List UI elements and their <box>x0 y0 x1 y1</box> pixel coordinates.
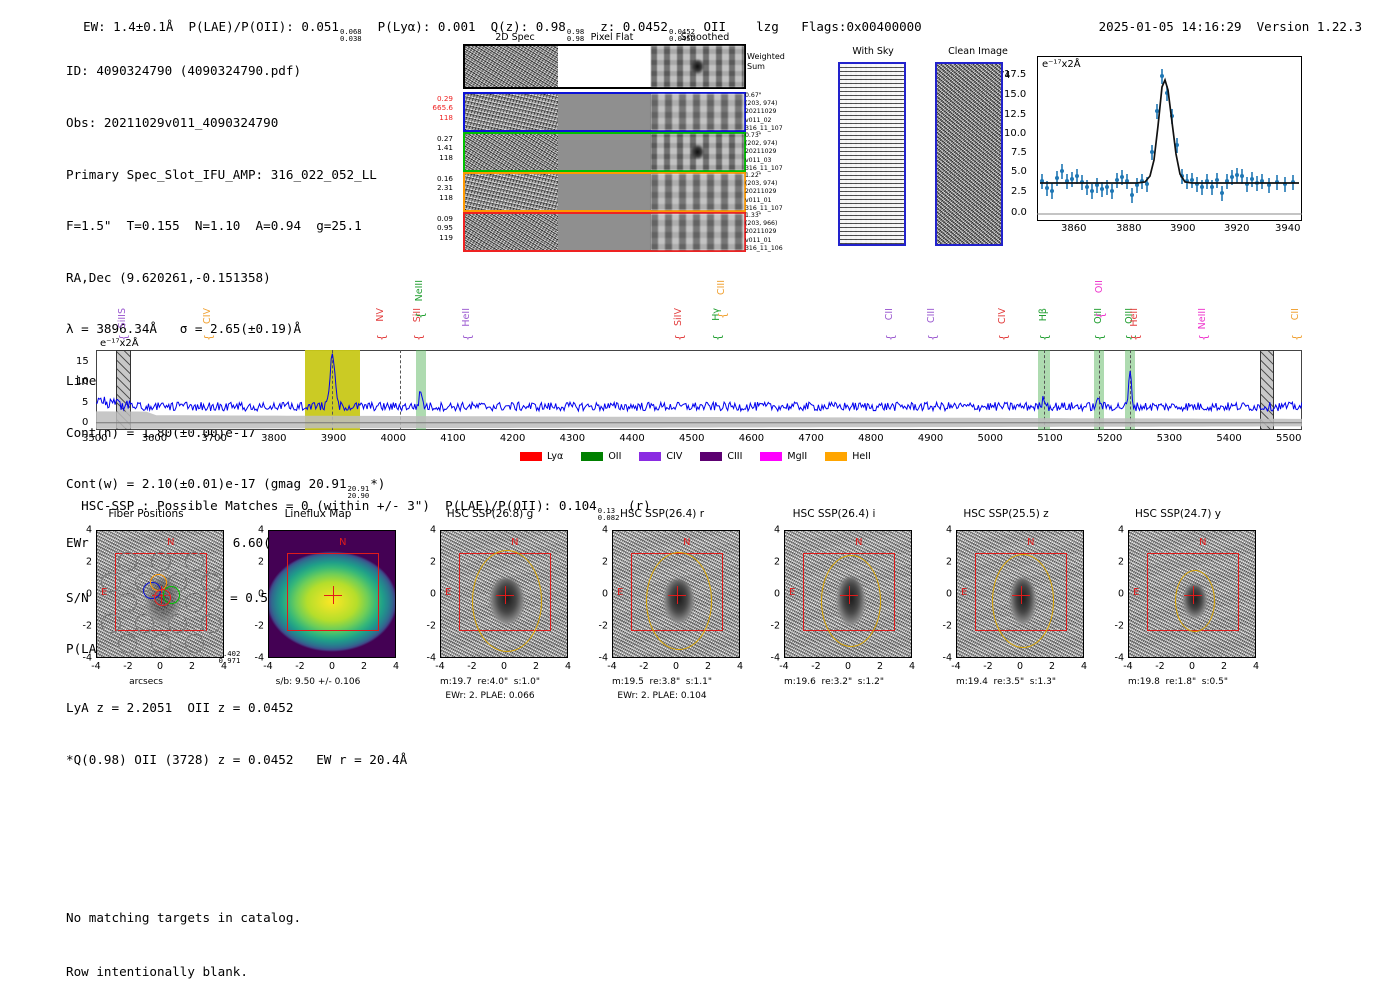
spectrum-xtick-4300: 4300 <box>560 433 585 444</box>
cutout-caption2-3: EWr: 2. PLAE: 0.104 <box>576 691 748 701</box>
spectrum-line-brace-11: { <box>997 334 1010 341</box>
spectrum-line-brace-7: { <box>711 334 724 341</box>
fiber-circle-12 <box>168 614 187 633</box>
info-primary-spec: Primary Spec_Slot_IFU_AMP: 316_022_052_L… <box>66 166 407 183</box>
cutout-1-xtick-4: 4 <box>393 661 399 672</box>
north-label-5: N <box>1027 537 1034 548</box>
east-label-2: E <box>445 587 451 598</box>
info-seeing-params: F=1.5" T=0.155 N=1.10 A=0.94 g=25.1 <box>66 217 407 234</box>
spectrum-line-label-CIV-11: CIV <box>997 308 1008 324</box>
cutout-6-xtick--2: -2 <box>1155 661 1164 672</box>
spectrum-line-label-NV-2: NV <box>375 308 386 322</box>
cutout-4-ytick-0: 0 <box>774 589 780 600</box>
fiber-row-3-left-label: 0.16 2.31 118 <box>395 174 453 202</box>
cutout-0-ytick-4: 4 <box>86 525 92 536</box>
spectrum-line-brace-8: { <box>716 312 729 319</box>
spectrum-xtick-5100: 5100 <box>1037 433 1062 444</box>
cutout-0-ytick-2: 2 <box>86 557 92 568</box>
fiber-row-4-right-label: 1.33" (203, 966) 20211029 v011_01 316_11… <box>745 212 783 253</box>
spectrum-line-brace-3: { <box>412 334 425 341</box>
fiber-row-1-pixelflat <box>558 94 651 130</box>
spectrum-xtick-3700: 3700 <box>201 433 226 444</box>
cutout-5-xtick--2: -2 <box>983 661 992 672</box>
fiber-circle-6 <box>201 573 220 592</box>
east-label-5: E <box>961 587 967 598</box>
spectrum-xtick-4900: 4900 <box>918 433 943 444</box>
spectrum-line-brace-17: { <box>1197 334 1210 341</box>
weighted-sum-label: Weighted Sum <box>747 52 785 72</box>
east-label-4: E <box>789 587 795 598</box>
kron-ellipse-2 <box>472 550 542 652</box>
kron-ellipse-6 <box>1175 570 1215 632</box>
fiber-circle-15 <box>151 634 170 653</box>
cutout-2-xtick-2: 2 <box>533 661 539 672</box>
fiber-row-1-smoothed <box>651 94 744 130</box>
fiber-circle-9 <box>185 593 204 612</box>
cutout-6-xtick-0: 0 <box>1189 661 1195 672</box>
lp-ytick-0.0: 0.0 <box>1011 207 1027 218</box>
spectrum-xtick-3900: 3900 <box>321 433 346 444</box>
cutout-caption1-3: m:19.5 re:3.8" s:1.1" <box>576 677 748 687</box>
with-sky-title-text: With Sky <box>852 46 893 57</box>
cutout-4-xtick-4: 4 <box>909 661 915 672</box>
cutout-6-xtick--4: -4 <box>1123 661 1132 672</box>
weighted-sum-2dspec <box>465 46 558 87</box>
spectrum-line-label-CIII-8: CIII <box>716 280 727 295</box>
cutout-axes-4[interactable]: NE <box>784 530 912 658</box>
spectrum-units: e⁻¹⁷x2Å <box>100 338 139 349</box>
cutout-caption2-2: EWr: 2. PLAE: 0.066 <box>404 691 576 701</box>
cutout-3-xtick-4: 4 <box>737 661 743 672</box>
panel-title-2dspec: 2D Spec <box>485 32 545 43</box>
cutout-axes-1[interactable]: N <box>268 530 396 658</box>
full-spectrum-chart: e⁻¹⁷x2Å <box>96 350 1302 430</box>
spectrum-line-brace-2: { <box>375 334 388 341</box>
east-label-6: E <box>1133 587 1139 598</box>
spectrum-xtick-4400: 4400 <box>619 433 644 444</box>
kron-ellipse-5 <box>992 554 1054 648</box>
fiber-row-1 <box>463 92 746 132</box>
cutout-4-ytick-4: 4 <box>774 525 780 536</box>
cutout-2-xtick-0: 0 <box>501 661 507 672</box>
cutout-5-ytick-4: 4 <box>946 525 952 536</box>
fiber-row-2-left-label: 0.27 1.41 118 <box>395 134 453 162</box>
cutout-0-xtick-2: 2 <box>189 661 195 672</box>
lp-ytick-10.0: 10.0 <box>1004 128 1026 139</box>
cutout-0-xtick-0: 0 <box>157 661 163 672</box>
legend-swatch-CIII <box>700 452 722 461</box>
cutout-5-xtick-2: 2 <box>1049 661 1055 672</box>
spectrum-ytick-15: 15 <box>76 356 89 367</box>
cutout-2-xtick--2: -2 <box>467 661 476 672</box>
spectrum-xtick-4200: 4200 <box>500 433 525 444</box>
kron-ellipse-4 <box>821 555 881 647</box>
cutout-title-1: Lineflux Map <box>232 508 404 520</box>
legend-item-OII: OII <box>581 451 621 462</box>
cutout-2-ytick-4: 4 <box>430 525 436 536</box>
cutout-5-ytick-0: 0 <box>946 589 952 600</box>
spectrum-xtick-4700: 4700 <box>798 433 823 444</box>
cutout-4-xtick--4: -4 <box>779 661 788 672</box>
highlight-fiber-3 <box>154 589 171 606</box>
lp-xtick-3860: 3860 <box>1061 223 1086 234</box>
lp-ytick-15.0: 15.0 <box>1004 89 1026 100</box>
cutout-title-6: HSC SSP(24.7) y <box>1092 508 1264 520</box>
spectrum-line-label-Hβ-12: Hβ <box>1038 308 1049 321</box>
lp-ytick-17.5: 17.5 <box>1004 69 1026 80</box>
fiber-row-4-left-label: 0.09 0.95 119 <box>395 214 453 242</box>
legend-label-MgII: MgII <box>787 451 807 462</box>
weighted-sum-smoothed <box>651 46 744 87</box>
fiber-row-4-smoothed <box>651 214 744 250</box>
cutout-6-ytick-4: 4 <box>1118 525 1124 536</box>
cutout-3-xtick--4: -4 <box>607 661 616 672</box>
spectrum-xtick-3800: 3800 <box>261 433 286 444</box>
cutout-6-xtick-4: 4 <box>1253 661 1259 672</box>
spectrum-xtick-5500: 5500 <box>1276 433 1301 444</box>
footer-line-1: No matching targets in catalog. <box>66 909 301 927</box>
spectrum-line-brace-5: { <box>461 334 474 341</box>
cutout-title-5: HSC SSP(25.5) z <box>920 508 1092 520</box>
legend-label-CIII: CIII <box>727 451 742 462</box>
cutout-0-xtick--2: -2 <box>123 661 132 672</box>
spectrum-xtick-5200: 5200 <box>1097 433 1122 444</box>
cutout-4-xtick-0: 0 <box>845 661 851 672</box>
spectrum-line-label-HeII-16: HeII <box>1129 308 1140 327</box>
legend-label-OII: OII <box>608 451 621 462</box>
cutout-title-4: HSC SSP(26.4) i <box>748 508 920 520</box>
fiber-row-4 <box>463 212 746 252</box>
spectrum-xtick-3500: 3500 <box>82 433 107 444</box>
header-version: Version 1.22.3 <box>1257 19 1362 34</box>
cutout-0-ytick-0: 0 <box>86 589 92 600</box>
spectrum-xtick-4500: 4500 <box>679 433 704 444</box>
east-label-3: E <box>617 587 623 598</box>
fiber-row-1-right-label: 0.67" (203, 974) 20211029 v011_02 316_11… <box>745 92 783 133</box>
spectrum-line-brace-1: { <box>202 334 215 341</box>
fiber-circle-16 <box>185 634 204 653</box>
spectrum-line-brace-13: { <box>1093 334 1106 341</box>
lp-xtick-3900: 3900 <box>1170 223 1195 234</box>
cutout-title-0: Fiber Positions <box>60 508 232 520</box>
info-id: ID: 4090324790 (4090324790.pdf) <box>66 62 407 79</box>
legend-swatch-OII <box>581 452 603 461</box>
cutout-caption1-0: arcsecs <box>60 677 232 687</box>
cutout-5-xtick-4: 4 <box>1081 661 1087 672</box>
lp-ytick-2.5: 2.5 <box>1011 186 1027 197</box>
legend-item-MgII: MgII <box>760 451 807 462</box>
info-obs: Obs: 20211029v011_4090324790 <box>66 114 407 131</box>
north-label-4: N <box>855 537 862 548</box>
cutout-3-xtick-2: 2 <box>705 661 711 672</box>
cutout-6-ytick-0: 0 <box>1118 589 1124 600</box>
spectrum-line-brace-18: { <box>1290 334 1303 341</box>
cutout-axes-5[interactable]: NE <box>956 530 1084 658</box>
cutout-2-ytick--2: -2 <box>427 621 436 632</box>
cutout-axes-6[interactable]: NE <box>1128 530 1256 658</box>
spectrum-line-label-OII-14: OII <box>1094 280 1105 293</box>
header-meta: 2025-01-05 14:16:29 Version 1.22.3 <box>1084 4 1362 34</box>
spectrum-line-label-HeII-5: HeII <box>461 308 472 327</box>
cutout-title-2: HSC SSP(26.8) g <box>404 508 576 520</box>
north-label-0: N <box>167 537 174 548</box>
spectrum-line-brace-9: { <box>884 334 897 341</box>
fiber-row-1-left-label: 0.29 665.6 118 <box>395 94 453 122</box>
legend-label-CIV: CIV <box>666 451 682 462</box>
cutout-1-ytick-4: 4 <box>258 525 264 536</box>
cutout-5-ytick-2: 2 <box>946 557 952 568</box>
cutout-5-xtick-0: 0 <box>1017 661 1023 672</box>
spectrum-line-label-CIV-1: CIV <box>202 308 213 324</box>
clean-image-title-text: Clean Image <box>948 46 1008 57</box>
fiber-circle-11 <box>135 614 154 633</box>
spectrum-ytick-10: 10 <box>76 376 89 387</box>
legend-swatch-CIV <box>639 452 661 461</box>
spectrum-line-label-SiIIS-0: SiIIS <box>117 308 128 328</box>
cutout-axes-0[interactable]: NE <box>96 530 224 658</box>
cutout-4-ytick--2: -2 <box>771 621 780 632</box>
with-sky-pixels <box>840 64 904 244</box>
fiber-row-2-right-label: 0.73" (202, 974) 20211029 v011_03 316_11… <box>745 132 783 173</box>
fiber-row-2 <box>463 132 746 172</box>
legend-item-Lyα: Lyα <box>520 451 563 462</box>
fiber-circle-2 <box>185 552 204 571</box>
header-flags: Flags:0x00400000 <box>801 19 921 34</box>
cutout-caption1-2: m:19.7 re:4.0" s:1.0" <box>404 677 576 687</box>
spectrum-trace <box>96 350 1302 430</box>
spectrum-line-label-CII-9: CII <box>884 308 895 320</box>
highlight-fiber-2 <box>150 574 167 591</box>
east-label-0: E <box>101 587 107 598</box>
panel-title-pixelflat: Pixel Flat <box>577 32 647 43</box>
cutout-0-xtick--4: -4 <box>91 661 100 672</box>
footer-notes: No matching targets in catalog. Row inte… <box>66 873 301 999</box>
spectrum-xtick-5300: 5300 <box>1157 433 1182 444</box>
lp-ytick-12.5: 12.5 <box>1004 109 1026 120</box>
cutout-1-xtick-2: 2 <box>361 661 367 672</box>
cutout-3-ytick--2: -2 <box>599 621 608 632</box>
cutout-caption1-6: m:19.8 re:1.8" s:0.5" <box>1092 677 1264 687</box>
cutout-caption1-4: m:19.6 re:3.2" s:1.2" <box>748 677 920 687</box>
legend-swatch-HeII <box>825 452 847 461</box>
cutout-caption1-1: s/b: 9.50 +/- 0.106 <box>232 677 404 687</box>
cutout-axes-3[interactable]: NE <box>612 530 740 658</box>
spec2d-panel-group: 2D Spec Pixel Flat Smoothed Weighted Sum… <box>425 32 805 257</box>
fiber-row-2-pixelflat <box>558 134 651 170</box>
cutout-2-ytick-0: 0 <box>430 589 436 600</box>
fiber-row-2-2dspec <box>465 134 558 170</box>
cutout-4-ytick-2: 2 <box>774 557 780 568</box>
lp-xtick-3880: 3880 <box>1116 223 1141 234</box>
spectrum-xtick-3600: 3600 <box>142 433 167 444</box>
info-redshifts: LyA z = 2.2051 OII z = 0.0452 <box>66 699 407 716</box>
cutout-1-ytick-0: 0 <box>258 589 264 600</box>
cutout-2-xtick--4: -4 <box>435 661 444 672</box>
cutout-3-ytick-4: 4 <box>602 525 608 536</box>
spectrum-line-brace-4: { <box>414 312 427 319</box>
cutout-3-xtick-0: 0 <box>673 661 679 672</box>
fiber-row-3-smoothed <box>651 174 744 210</box>
spectrum-xtick-4100: 4100 <box>440 433 465 444</box>
weighted-sum-row <box>463 44 746 89</box>
clean-image-pixels <box>937 64 1001 244</box>
cutout-3-ytick-2: 2 <box>602 557 608 568</box>
cutout-5-xtick--4: -4 <box>951 661 960 672</box>
fiber-circle-10 <box>101 614 120 633</box>
spectrum-line-brace-16: { <box>1129 334 1142 341</box>
with-sky-image <box>838 62 906 246</box>
fiber-row-3 <box>463 172 746 212</box>
fiber-circle-1 <box>151 552 170 571</box>
fiber-row-4-2dspec <box>465 214 558 250</box>
north-label-6: N <box>1199 537 1206 548</box>
spectrum-line-label-SiIV-6: SiIV <box>673 308 684 326</box>
cutout-0-ytick--2: -2 <box>83 621 92 632</box>
north-label-3: N <box>683 537 690 548</box>
header-timestamp: 2025-01-05 14:16:29 <box>1099 19 1242 34</box>
cutout-4-xtick--2: -2 <box>811 661 820 672</box>
cutout-5-ytick--2: -2 <box>943 621 952 632</box>
spectrum-line-brace-12: { <box>1038 334 1051 341</box>
legend-item-CIII: CIII <box>700 451 742 462</box>
legend-swatch-MgII <box>760 452 782 461</box>
legend-label-Lyα: Lyα <box>547 451 563 462</box>
legend-item-CIV: CIV <box>639 451 682 462</box>
cutout-2-ytick-2: 2 <box>430 557 436 568</box>
cutout-axes-2[interactable]: NE <box>440 530 568 658</box>
cutout-1-ytick--2: -2 <box>255 621 264 632</box>
spectrum-xtick-5000: 5000 <box>978 433 1003 444</box>
fiber-row-3-2dspec <box>465 174 558 210</box>
fiber-row-3-pixelflat <box>558 174 651 210</box>
line-profile-chart: e⁻¹⁷x2Å <box>1037 56 1302 221</box>
lp-ytick-7.5: 7.5 <box>1011 147 1027 158</box>
spectrum-xtick-5400: 5400 <box>1216 433 1241 444</box>
lp-xtick-3940: 3940 <box>1275 223 1300 234</box>
cutout-1-xtick--4: -4 <box>263 661 272 672</box>
legend-swatch-Lyα <box>520 452 542 461</box>
spectrum-line-label-NeIII-4: NeIII <box>414 280 425 301</box>
center-crosshair-v-1 <box>333 586 334 604</box>
cutout-6-xtick-2: 2 <box>1221 661 1227 672</box>
spectrum-ytick-0: 0 <box>82 417 88 428</box>
spectrum-ytick-5: 5 <box>82 397 88 408</box>
lp-xtick-3920: 3920 <box>1224 223 1249 234</box>
cutout-3-xtick--2: -2 <box>639 661 648 672</box>
weighted-sum-pixelflat <box>558 46 651 87</box>
cutout-title-3: HSC SSP(26.4) r <box>576 508 748 520</box>
cutout-caption1-5: m:19.4 re:3.5" s:1.3" <box>920 677 1092 687</box>
fiber-circle-13 <box>201 614 220 633</box>
cutout-4-xtick-2: 2 <box>877 661 883 672</box>
line-profile-svg <box>1037 56 1302 221</box>
fiber-row-4-pixelflat <box>558 214 651 250</box>
spectrum-line-label-CII-18: CII <box>1290 308 1301 320</box>
spectrum-xtick-4600: 4600 <box>739 433 764 444</box>
cutout-2-xtick-4: 4 <box>565 661 571 672</box>
panel-title-smoothed: Smoothed <box>670 32 740 43</box>
cutout-3-ytick-0: 0 <box>602 589 608 600</box>
legend-label-HeII: HeII <box>852 451 871 462</box>
spectrum-legend: LyαOIICIVCIIIMgIIHeII <box>520 451 871 462</box>
spectrum-xtick-4800: 4800 <box>858 433 883 444</box>
spectrum-line-label-NeIII-17: NeIII <box>1197 308 1208 329</box>
spectrum-xtick-4000: 4000 <box>381 433 406 444</box>
footer-line-2: Row intentionally blank. <box>66 963 301 981</box>
fiber-row-3-right-label: 1.22" (203, 974) 20211029 v011_01 316_11… <box>745 172 783 213</box>
cutout-1-xtick--2: -2 <box>295 661 304 672</box>
cutout-6-ytick-2: 2 <box>1118 557 1124 568</box>
spectrum-line-label-CIII-10: CIII <box>926 308 937 323</box>
spectrum-flux-line <box>96 354 1302 411</box>
cutout-1-ytick-2: 2 <box>258 557 264 568</box>
kron-ellipse-3 <box>646 552 712 650</box>
lp-ytick-5.0: 5.0 <box>1011 166 1027 177</box>
cutout-1-xtick-0: 0 <box>329 661 335 672</box>
spectrum-error-shading <box>96 411 1302 428</box>
legend-item-HeII: HeII <box>825 451 871 462</box>
clean-image <box>935 62 1003 246</box>
spectrum-line-brace-6: { <box>673 334 686 341</box>
info-radec: RA,Dec (9.620261,-0.151358) <box>66 269 407 286</box>
fiber-row-2-smoothed <box>651 134 744 170</box>
info-q-line: *Q(0.98) OII (3728) z = 0.0452 EW r = 20… <box>66 751 407 768</box>
north-label-2: N <box>511 537 518 548</box>
fiber-row-1-2dspec <box>465 94 558 130</box>
spectrum-line-brace-14: { <box>1094 312 1107 319</box>
cutout-6-ytick--2: -2 <box>1115 621 1124 632</box>
spectrum-line-brace-10: { <box>926 334 939 341</box>
cutout-0-xtick-4: 4 <box>221 661 227 672</box>
north-label-1: N <box>339 537 346 548</box>
